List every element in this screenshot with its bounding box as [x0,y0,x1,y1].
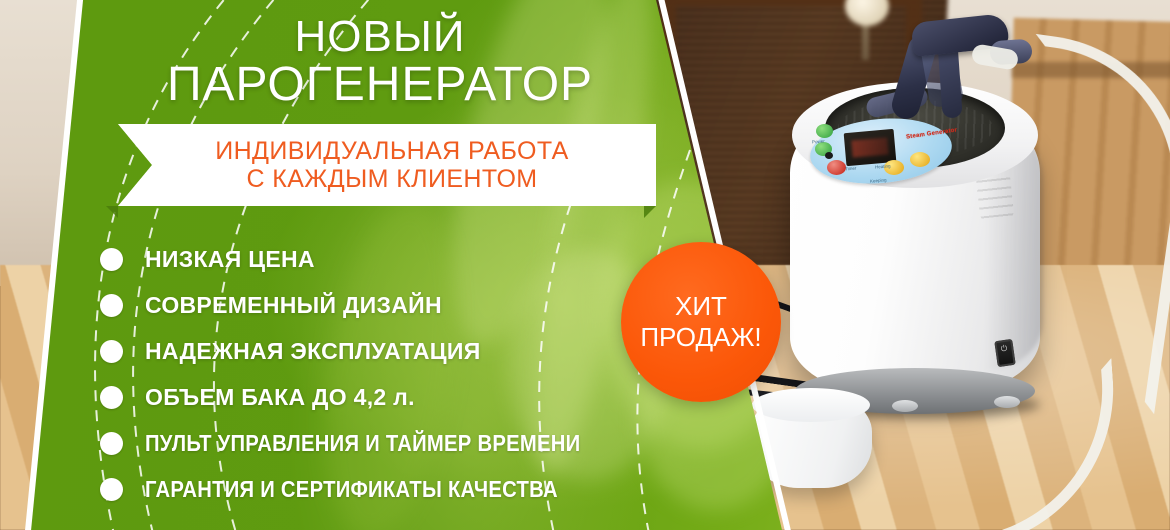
list-item: НАДЕЖНАЯ ЭКСПЛУАТАЦИЯ [100,328,680,374]
lcd-digits [851,137,888,157]
list-item: СОВРЕМЕННЫЙ ДИЗАЙН [100,282,680,328]
bullet-dot-icon [100,294,123,317]
indicator-led [825,152,833,159]
accessory-pot-lid [752,388,870,422]
ribbon-line-2: С КАЖДЫМ КЛИЕНТОМ [246,165,537,193]
status-badge: ХИТ ПРОДАЖ! [621,242,781,402]
list-item: ОБЪЕМ БАКА ДО 4,2 л. [100,374,680,420]
list-item: ПУЛЬТ УПРАВЛЕНИЯ И ТАЙМЕР ВРЕМЕНИ [100,420,680,466]
bullet-dot-icon [100,340,123,363]
ribbon-text: ИНДИВИДУАЛЬНАЯ РАБОТА С КАЖДЫМ КЛИЕНТОМ [118,124,656,206]
feature-label: ОБЪЕМ БАКА ДО 4,2 л. [145,384,415,411]
badge-line-2: ПРОДАЖ! [640,322,761,353]
bullet-dot-icon [100,478,123,501]
feature-label: ПУЛЬТ УПРАВЛЕНИЯ И ТАЙМЕР ВРЕМЕНИ [145,430,580,457]
list-item: ГАРАНТИЯ И СЕРТИФИКАТЫ КАЧЕСТВА [100,466,680,512]
bullet-dot-icon [100,432,123,455]
feature-label: НАДЕЖНАЯ ЭКСПЛУАТАЦИЯ [145,338,481,365]
red-power-button[interactable] [827,160,846,175]
power-icon: ⏻ [1000,345,1007,354]
headline-line-1: НОВЫЙ [120,14,640,60]
bullet-dot-icon [100,386,123,409]
ribbon-line-1: ИНДИВИДУАЛЬНАЯ РАБОТА [215,137,569,165]
page-title: НОВЫЙ ПАРОГЕНЕРАТОР [120,14,640,110]
feature-list: НИЗКАЯ ЦЕНА СОВРЕМЕННЫЙ ДИЗАЙН НАДЕЖНАЯ … [100,236,680,512]
ribbon-banner: ИНДИВИДУАЛЬНАЯ РАБОТА С КАЖДЫМ КЛИЕНТОМ [118,124,656,206]
feature-label: НИЗКАЯ ЦЕНА [145,246,315,273]
badge-line-1: ХИТ [675,291,727,322]
feature-label: ГАРАНТИЯ И СЕРТИФИКАТЫ КАЧЕСТВА [145,476,558,503]
panel-label-timer: Timer [845,166,857,172]
promo-banner: Power Timer Heating Keeping Steam Genera… [0,0,1170,530]
list-item: НИЗКАЯ ЦЕНА [100,236,680,282]
green-button-up[interactable] [816,124,833,138]
bullet-dot-icon [100,248,123,271]
headline-line-2: ПАРОГЕНЕРАТОР [120,60,640,110]
feature-label: СОВРЕМЕННЫЙ ДИЗАЙН [145,292,442,319]
ribbon-fold-left [106,206,118,218]
yellow-button-keeping[interactable] [910,152,930,167]
ribbon-fold-right [644,206,656,218]
